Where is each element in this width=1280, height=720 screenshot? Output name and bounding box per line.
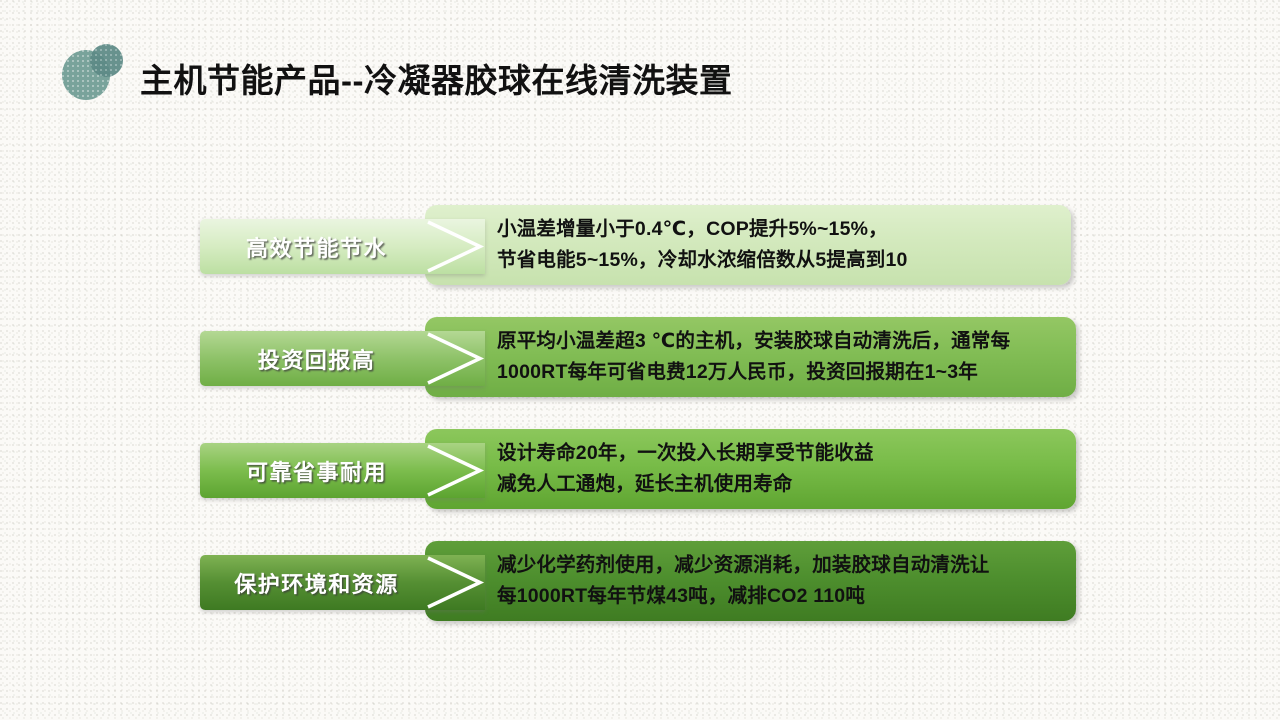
benefit-label-inner: 保护环境和资源: [200, 555, 485, 610]
slide-canvas: 主机节能产品--冷凝器胶球在线清洗装置 小温差增量小于0.4℃，COP提升5%~…: [0, 0, 1280, 720]
benefit-row: 减少化学药剂使用，减少资源消耗，加装胶球自动清洗让 每1000RT每年节煤43吨…: [0, 532, 1280, 642]
page-title: 主机节能产品--冷凝器胶球在线清洗装置: [140, 60, 732, 102]
benefit-label-text: 保护环境和资源: [234, 567, 399, 599]
benefit-row: 原平均小温差超3 ℃的主机，安装胶球自动清洗后，通常每 1000RT每年可省电费…: [0, 308, 1280, 418]
benefit-body-text: 设计寿命20年，一次投入长期享受节能收益 减免人工通炮，延长主机使用寿命: [425, 438, 890, 500]
benefit-body-text: 原平均小温差超3 ℃的主机，安装胶球自动清洗后，通常每 1000RT每年可省电费…: [425, 326, 1026, 388]
benefit-body-panel: 减少化学药剂使用，减少资源消耗，加装胶球自动清洗让 每1000RT每年节煤43吨…: [425, 541, 1076, 621]
benefit-row: 小温差增量小于0.4℃，COP提升5%~15%， 节省电能5~15%，冷却水浓缩…: [0, 196, 1280, 306]
benefit-label-text: 可靠省事耐用: [246, 455, 387, 487]
benefit-label-band[interactable]: 高效节能节水: [200, 219, 485, 274]
benefit-body-text: 小温差增量小于0.4℃，COP提升5%~15%， 节省电能5~15%，冷却水浓缩…: [425, 214, 924, 276]
benefit-label-band[interactable]: 可靠省事耐用: [200, 443, 485, 498]
benefit-label-inner: 可靠省事耐用: [200, 443, 485, 498]
benefit-label-text: 投资回报高: [258, 343, 376, 375]
benefit-label-band[interactable]: 保护环境和资源: [200, 555, 485, 610]
benefit-label-inner: 投资回报高: [200, 331, 485, 386]
benefit-body-panel: 原平均小温差超3 ℃的主机，安装胶球自动清洗后，通常每 1000RT每年可省电费…: [425, 317, 1076, 397]
decorative-circles-icon: [62, 44, 142, 106]
benefit-body-text: 减少化学药剂使用，减少资源消耗，加装胶球自动清洗让 每1000RT每年节煤43吨…: [425, 550, 1006, 612]
benefit-body-panel: 设计寿命20年，一次投入长期享受节能收益 减免人工通炮，延长主机使用寿命: [425, 429, 1076, 509]
benefit-body-panel: 小温差增量小于0.4℃，COP提升5%~15%， 节省电能5~15%，冷却水浓缩…: [425, 205, 1071, 285]
decorative-circle-small-icon: [90, 44, 123, 77]
benefit-label-inner: 高效节能节水: [200, 219, 485, 274]
benefit-row: 设计寿命20年，一次投入长期享受节能收益 减免人工通炮，延长主机使用寿命 可靠省…: [0, 420, 1280, 530]
benefit-label-band[interactable]: 投资回报高: [200, 331, 485, 386]
title-area: 主机节能产品--冷凝器胶球在线清洗装置: [0, 0, 1280, 130]
benefit-label-text: 高效节能节水: [246, 231, 387, 263]
